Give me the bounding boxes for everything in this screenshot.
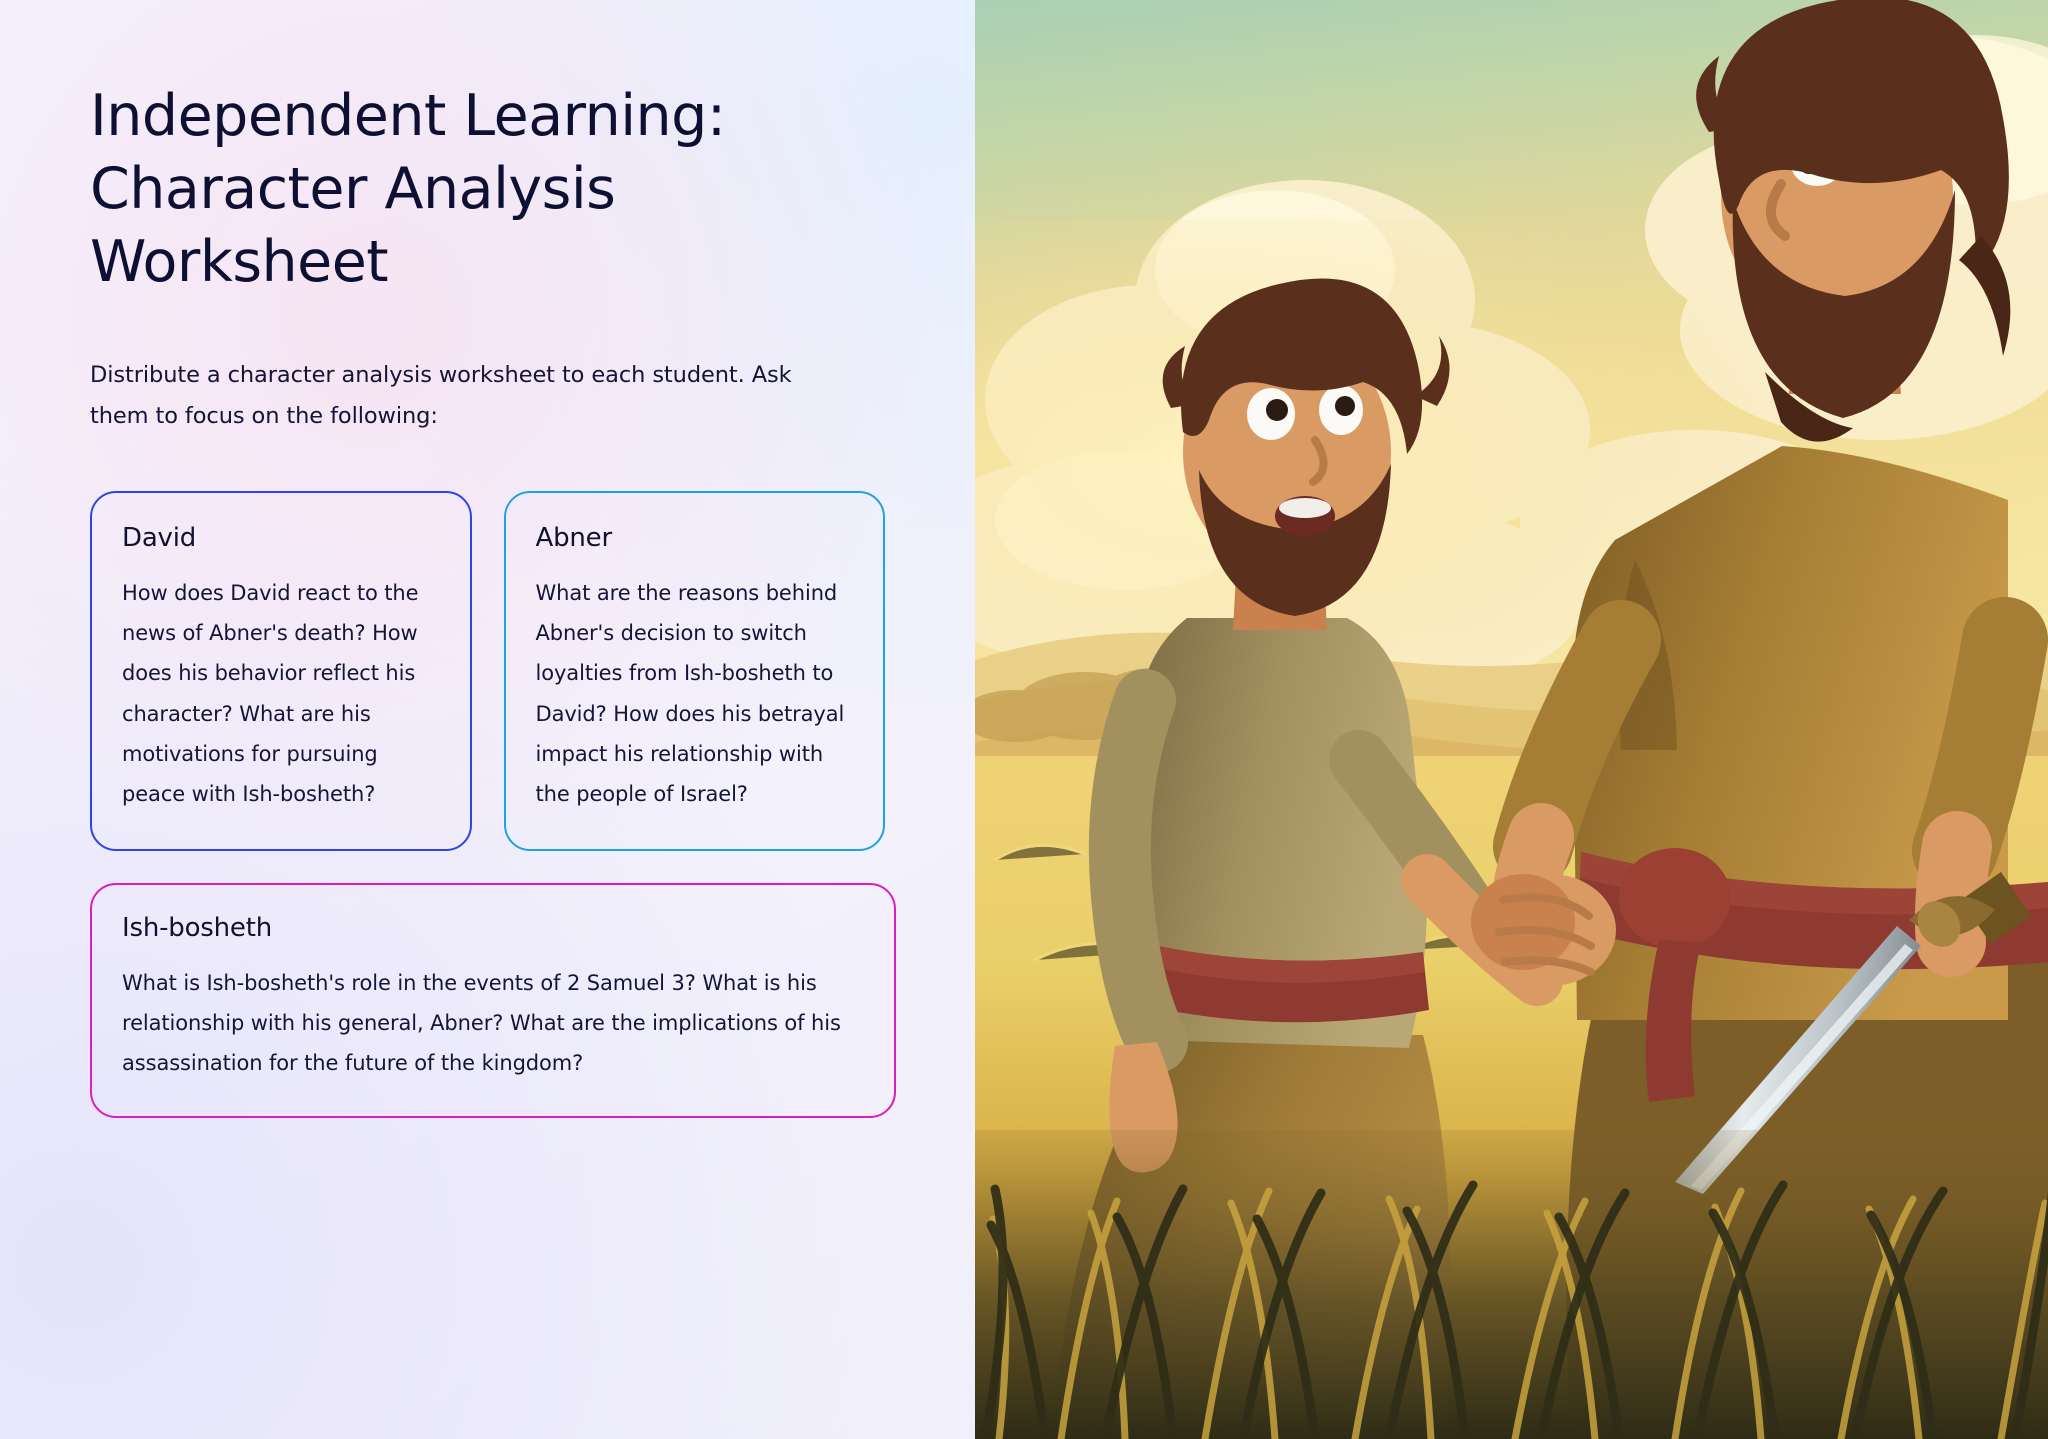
two-men-handshake-wheat-field-illustration	[975, 0, 2048, 1439]
card-body-ish-bosheth: What is Ish-bosheth's role in the events…	[122, 963, 864, 1084]
character-card-ish-bosheth[interactable]: Ish-bosheth What is Ish-bosheth's role i…	[90, 883, 896, 1118]
character-card-david[interactable]: David How does David react to the news o…	[90, 491, 472, 851]
card-title-abner: Abner	[536, 523, 854, 553]
character-card-row: David How does David react to the news o…	[90, 491, 885, 851]
illustration-panel	[975, 0, 2048, 1439]
character-card-abner[interactable]: Abner What are the reasons behind Abner'…	[504, 491, 886, 851]
card-title-ish-bosheth: Ish-bosheth	[122, 913, 864, 943]
intro-paragraph: Distribute a character analysis workshee…	[90, 355, 850, 437]
card-body-abner: What are the reasons behind Abner's deci…	[536, 573, 854, 815]
grass-shadow-layer	[975, 1130, 2048, 1439]
page-title: Independent Learning: Character Analysis…	[90, 80, 740, 299]
worksheet-page: Independent Learning: Character Analysis…	[0, 0, 2048, 1439]
card-body-david: How does David react to the news of Abne…	[122, 573, 440, 815]
content-panel: Independent Learning: Character Analysis…	[0, 0, 975, 1439]
card-title-david: David	[122, 523, 440, 553]
